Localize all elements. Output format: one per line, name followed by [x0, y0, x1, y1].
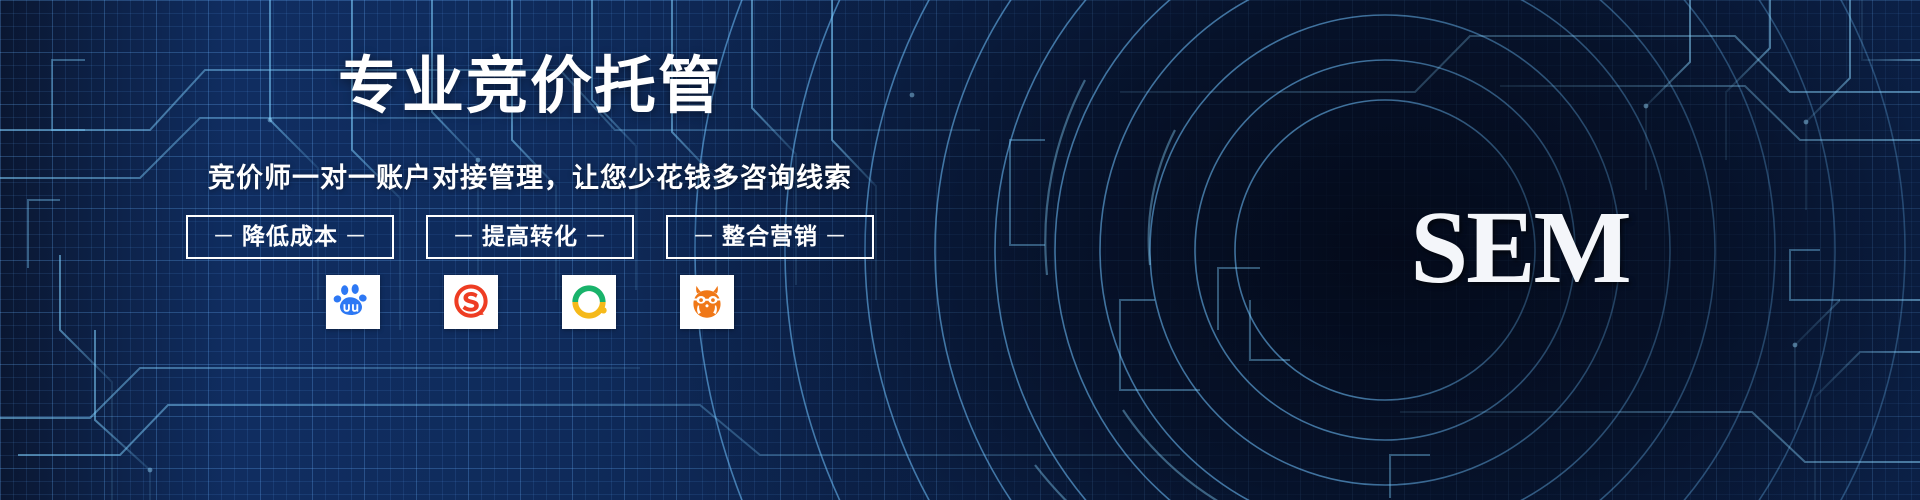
- tag-dash-right: －: [578, 223, 614, 249]
- feature-tag-conversion[interactable]: －提高转化－: [426, 215, 634, 259]
- feature-tag-label: 降低成本: [242, 223, 338, 249]
- banner-subtitle: 竞价师一对一账户对接管理，让您少花钱多咨询线索: [0, 165, 1060, 192]
- sem-hosting-banner: 专业竞价托管 竞价师一对一账户对接管理，让您少花钱多咨询线索 －降低成本－ －提…: [0, 0, 1920, 500]
- feature-tag-label: 整合营销: [722, 223, 818, 249]
- sem-wordmark: SEM: [1380, 196, 1660, 300]
- search-engine-logo-row: [0, 275, 1060, 329]
- shenma-logo-icon: [686, 281, 728, 323]
- baidu-logo-icon: [332, 281, 374, 323]
- banner-content: 专业竞价托管 竞价师一对一账户对接管理，让您少花钱多咨询线索 －降低成本－ －提…: [0, 0, 1060, 500]
- sogou-logo-icon: [450, 281, 492, 323]
- shenma-logo-chip[interactable]: [680, 275, 734, 329]
- tag-dash-right: －: [338, 223, 374, 249]
- tag-dash-left: －: [686, 223, 722, 249]
- tag-dash-right: －: [818, 223, 854, 249]
- feature-tag-row: －降低成本－ －提高转化－ －整合营销－: [0, 215, 1060, 259]
- sogou-logo-chip[interactable]: [444, 275, 498, 329]
- feature-tag-cost[interactable]: －降低成本－: [186, 215, 394, 259]
- tag-dash-left: －: [206, 223, 242, 249]
- feature-tag-label: 提高转化: [482, 223, 578, 249]
- page-title: 专业竞价托管: [0, 56, 1060, 118]
- arc-segments: [1035, 80, 1243, 500]
- feature-tag-marketing[interactable]: －整合营销－: [666, 215, 874, 259]
- baidu-logo-chip[interactable]: [326, 275, 380, 329]
- tag-dash-left: －: [446, 223, 482, 249]
- 360-search-logo-icon: [568, 281, 610, 323]
- 360-search-logo-chip[interactable]: [562, 275, 616, 329]
